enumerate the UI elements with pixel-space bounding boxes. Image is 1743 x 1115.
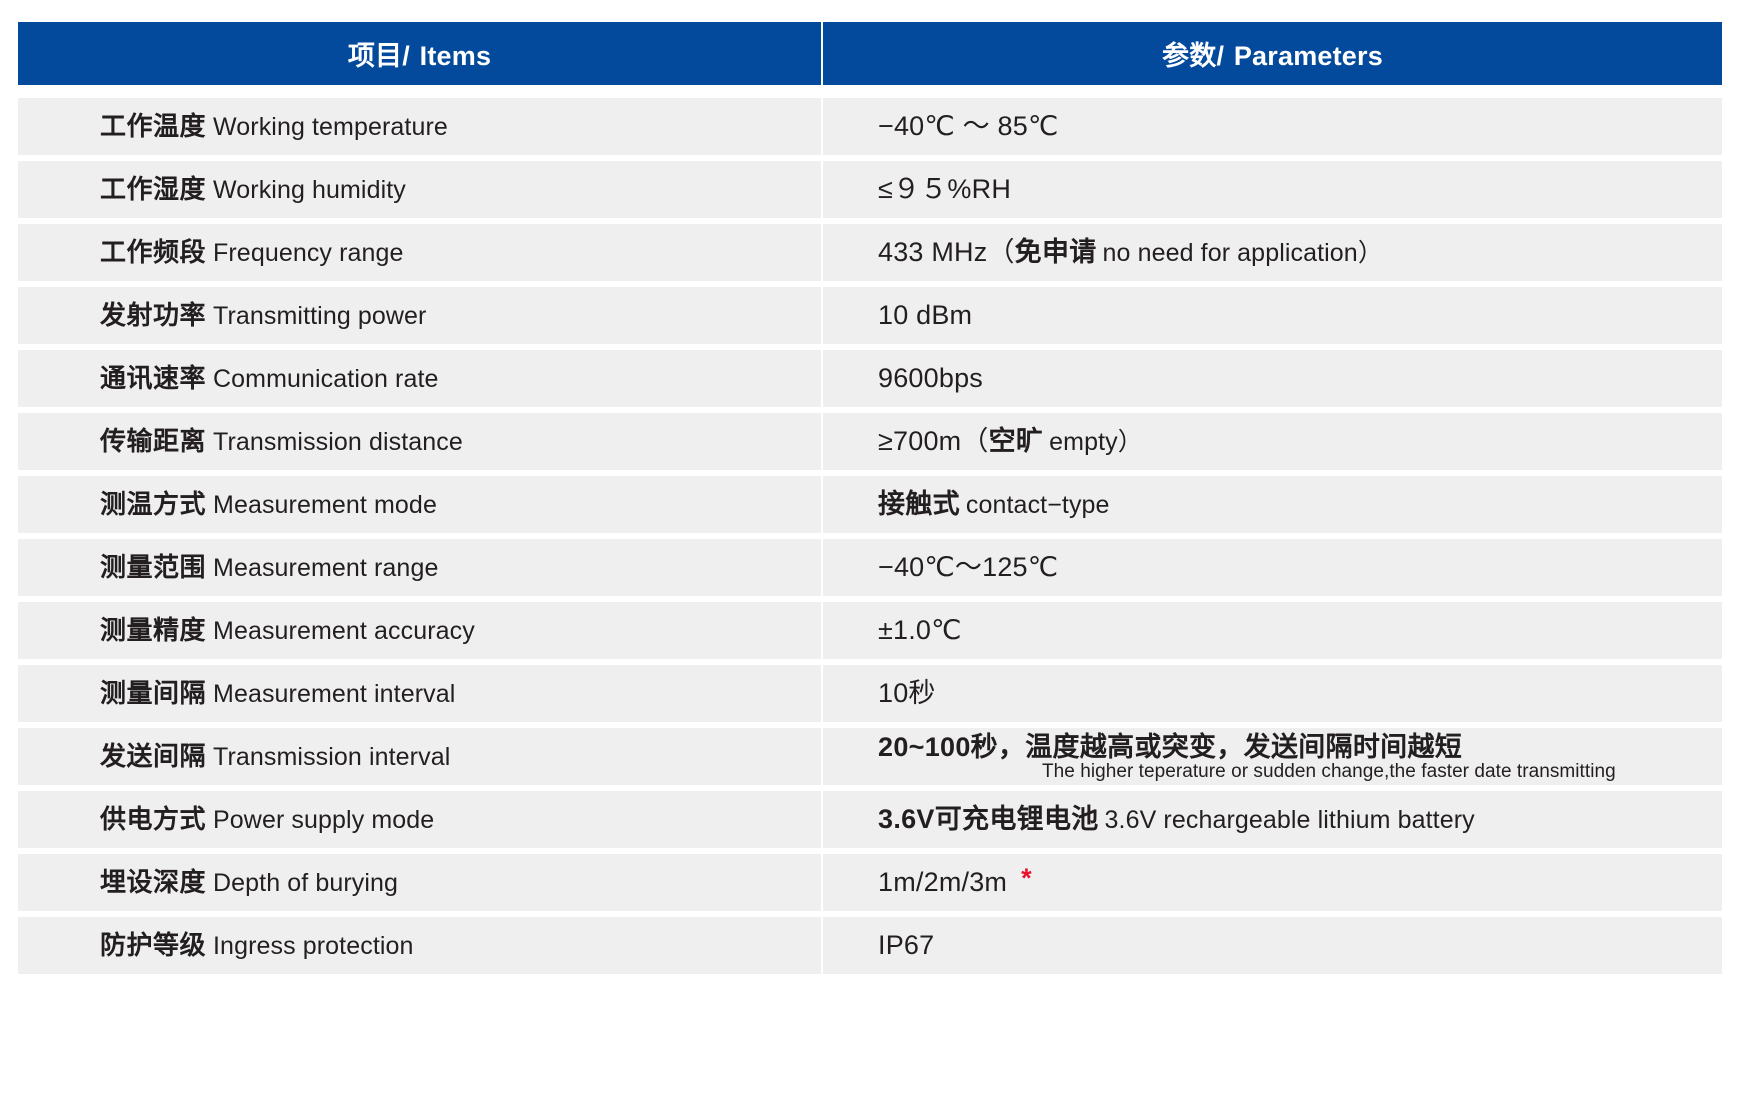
item-label-cn: 工作湿度 — [100, 174, 206, 204]
parameter-value-cell: 10秒 — [823, 665, 1722, 722]
item-label-line: 测量间隔Measurement interval — [100, 680, 455, 707]
item-label-cell: 测量精度Measurement accuracy — [18, 602, 821, 659]
item-label-cell: 工作温度Working temperature — [18, 98, 821, 155]
parameter-value-line: ±1.0℃ — [878, 617, 962, 644]
footnote-asterisk-marker: * — [1007, 865, 1032, 892]
item-label-line: 工作频段Frequency range — [100, 239, 404, 266]
parameter-value-line: 接触式contact−type — [878, 491, 1110, 518]
parameter-value-cell: IP67 — [823, 917, 1722, 974]
parameter-value-cn: 接触式 — [878, 491, 960, 518]
item-label-cn: 发送间隔 — [100, 741, 206, 771]
parameter-value-line: −40℃～125℃ — [878, 554, 1058, 581]
column-header-items-en: Items — [420, 41, 492, 71]
parameter-value-line: 9600bps — [878, 365, 983, 392]
parameter-value-line: 1m/2m/3m* — [878, 869, 1032, 896]
parameter-value-en: empty） — [1043, 430, 1143, 455]
column-header-items-text: 项目/ Items — [348, 34, 491, 73]
parameter-value-text: 1m/2m/3m — [878, 869, 1007, 896]
item-label-cell: 埋设深度Depth of burying — [18, 854, 821, 911]
column-header-parameters-en: Parameters — [1234, 41, 1383, 71]
item-label-cell: 发送间隔Transmission interval — [18, 728, 821, 785]
item-label-line: 测量精度Measurement accuracy — [100, 617, 475, 644]
table-row: 传输距离Transmission distance≥700m（空旷empty） — [18, 413, 1722, 470]
item-label-cn: 埋设深度 — [100, 867, 206, 897]
item-label-cn: 测量范围 — [100, 552, 206, 582]
table-row: 工作频段Frequency range433 MHz（免申请no need fo… — [18, 224, 1722, 281]
item-label-en: Measurement accuracy — [206, 617, 475, 645]
item-label-cn: 测量间隔 — [100, 678, 206, 708]
table-header-row: 项目/ Items 参数/ Parameters — [18, 22, 1722, 85]
table-body: 工作温度Working temperature−40℃ ～ 85℃工作湿度Wor… — [18, 98, 1722, 974]
item-label-cell: 测量范围Measurement range — [18, 539, 821, 596]
item-label-cn: 测温方式 — [100, 489, 206, 519]
parameter-value-line: 10 dBm — [878, 302, 972, 329]
parameter-value-cell: 433 MHz（免申请no need for application） — [823, 224, 1722, 281]
parameter-value-line: 3.6V可充电锂电池3.6V rechargeable lithium batt… — [878, 806, 1475, 833]
parameter-value-cell: 1m/2m/3m* — [823, 854, 1722, 911]
item-label-line: 测量范围Measurement range — [100, 554, 438, 581]
parameter-value-text: −40℃～125℃ — [878, 554, 1058, 581]
item-label-en: Measurement interval — [206, 680, 455, 708]
parameter-value-cn: 免申请 — [1015, 239, 1097, 266]
parameter-value-cell: 20~100秒，温度越高或突变，发送间隔时间越短The higher teper… — [823, 728, 1722, 785]
parameter-value-cn: 空旷 — [989, 428, 1044, 455]
item-label-en: Transmitting power — [206, 302, 426, 330]
parameter-value-line: ≥700m（空旷empty） — [878, 428, 1143, 455]
item-label-cell: 发射功率Transmitting power — [18, 287, 821, 344]
parameter-value-en: 3.6V rechargeable lithium battery — [1099, 808, 1475, 833]
item-label-cn: 通讯速率 — [100, 363, 206, 393]
parameter-value-line: −40℃ ～ 85℃ — [878, 113, 1058, 140]
parameter-value-line: IP67 — [878, 932, 934, 959]
column-header-items-cn: 项目 — [348, 41, 402, 71]
item-label-line: 埋设深度Depth of burying — [100, 869, 398, 896]
parameter-value-cell: 9600bps — [823, 350, 1722, 407]
parameter-value-text: ±1.0℃ — [878, 617, 962, 644]
parameter-value-text: 433 MHz（ — [878, 239, 1015, 266]
item-label-en: Measurement mode — [206, 491, 437, 519]
parameter-value-cell: ≥700m（空旷empty） — [823, 413, 1722, 470]
table-row: 埋设深度Depth of burying1m/2m/3m* — [18, 854, 1722, 911]
item-label-cell: 测温方式Measurement mode — [18, 476, 821, 533]
item-label-cell: 测量间隔Measurement interval — [18, 665, 821, 722]
item-label-en: Power supply mode — [206, 806, 434, 834]
item-label-cell: 通讯速率Communication rate — [18, 350, 821, 407]
parameter-value-cn: 3.6V可充电锂电池 — [878, 806, 1099, 833]
item-label-en: Working temperature — [206, 113, 448, 141]
parameter-value-text: −40℃ ～ 85℃ — [878, 113, 1058, 140]
column-header-parameters-separator: / — [1216, 41, 1226, 71]
specification-table: 项目/ Items 参数/ Parameters 工作温度Working tem… — [0, 0, 1743, 1115]
item-label-line: 发射功率Transmitting power — [100, 302, 426, 329]
table-row: 供电方式Power supply mode3.6V可充电锂电池3.6V rech… — [18, 791, 1722, 848]
parameter-value-cell: 接触式contact−type — [823, 476, 1722, 533]
parameter-value-line: 433 MHz（免申请no need for application） — [878, 239, 1383, 266]
item-label-cn: 测量精度 — [100, 615, 206, 645]
item-label-cell: 工作湿度Working humidity — [18, 161, 821, 218]
item-label-en: Transmission distance — [206, 428, 463, 456]
item-label-line: 供电方式Power supply mode — [100, 806, 434, 833]
table-row: 工作温度Working temperature−40℃ ～ 85℃ — [18, 98, 1722, 155]
item-label-en: Measurement range — [206, 554, 438, 582]
parameter-value-line: ≤９５%RH — [878, 176, 1011, 203]
item-label-line: 通讯速率Communication rate — [100, 365, 439, 392]
item-label-en: Communication rate — [206, 365, 439, 393]
item-label-cell: 供电方式Power supply mode — [18, 791, 821, 848]
table-row: 工作湿度Working humidity≤９５%RH — [18, 161, 1722, 218]
table-row: 测量间隔Measurement interval10秒 — [18, 665, 1722, 722]
item-label-cell: 传输距离Transmission distance — [18, 413, 821, 470]
parameter-value-cell: 3.6V可充电锂电池3.6V rechargeable lithium batt… — [823, 791, 1722, 848]
parameter-value-cell: −40℃～125℃ — [823, 539, 1722, 596]
parameter-value-cell: ≤９５%RH — [823, 161, 1722, 218]
item-label-en: Working humidity — [206, 176, 406, 204]
parameter-value-en: contact−type — [960, 493, 1110, 518]
item-label-line: 工作湿度Working humidity — [100, 176, 406, 203]
item-label-line: 测温方式Measurement mode — [100, 491, 437, 518]
column-header-parameters: 参数/ Parameters — [823, 22, 1722, 85]
item-label-cn: 供电方式 — [100, 804, 206, 834]
table-row: 发送间隔Transmission interval20~100秒，温度越高或突变… — [18, 728, 1722, 785]
item-label-line: 传输距离Transmission distance — [100, 428, 463, 455]
parameter-value-note-en: The higher teperature or sudden change,t… — [878, 762, 1616, 782]
item-label-en: Frequency range — [206, 239, 404, 267]
table-row: 发射功率Transmitting power10 dBm — [18, 287, 1722, 344]
column-header-parameters-cn: 参数 — [1162, 41, 1216, 71]
item-label-cell: 防护等级Ingress protection — [18, 917, 821, 974]
parameter-value-cn: 20~100秒，温度越高或突变，发送间隔时间越短 — [878, 734, 1462, 761]
parameter-value-text: 9600bps — [878, 365, 983, 392]
parameter-value-text: 10秒 — [878, 680, 936, 707]
parameter-value-en: no need for application） — [1097, 241, 1383, 266]
parameter-value-text: ≤９５%RH — [878, 176, 1011, 203]
parameter-value-cell: ±1.0℃ — [823, 602, 1722, 659]
parameter-value-cell: −40℃ ～ 85℃ — [823, 98, 1722, 155]
item-label-cn: 工作温度 — [100, 111, 206, 141]
item-label-line: 发送间隔Transmission interval — [100, 743, 450, 770]
item-label-line: 防护等级Ingress protection — [100, 932, 414, 959]
table-row: 通讯速率Communication rate9600bps — [18, 350, 1722, 407]
item-label-en: Ingress protection — [206, 932, 414, 960]
parameter-value-text: IP67 — [878, 932, 934, 959]
parameter-value-cell: 10 dBm — [823, 287, 1722, 344]
item-label-cell: 工作频段Frequency range — [18, 224, 821, 281]
table-row: 测量精度Measurement accuracy±1.0℃ — [18, 602, 1722, 659]
parameter-value-text: 10 dBm — [878, 302, 972, 329]
table-row: 测量范围Measurement range−40℃～125℃ — [18, 539, 1722, 596]
table-row: 防护等级Ingress protectionIP67 — [18, 917, 1722, 974]
item-label-cn: 传输距离 — [100, 426, 206, 456]
item-label-cn: 工作频段 — [100, 237, 206, 267]
item-label-cn: 防护等级 — [100, 930, 206, 960]
column-header-items-separator: / — [402, 41, 412, 71]
column-header-parameters-text: 参数/ Parameters — [1162, 34, 1383, 73]
parameter-value-line: 10秒 — [878, 680, 936, 707]
item-label-cn: 发射功率 — [100, 300, 206, 330]
item-label-en: Depth of burying — [206, 869, 398, 897]
column-header-items: 项目/ Items — [18, 22, 821, 85]
parameter-value-line: 20~100秒，温度越高或突变，发送间隔时间越短 — [878, 734, 1462, 761]
item-label-line: 工作温度Working temperature — [100, 113, 448, 140]
parameter-value-text: ≥700m（ — [878, 428, 989, 455]
table-row: 测温方式Measurement mode接触式contact−type — [18, 476, 1722, 533]
item-label-en: Transmission interval — [206, 743, 450, 771]
